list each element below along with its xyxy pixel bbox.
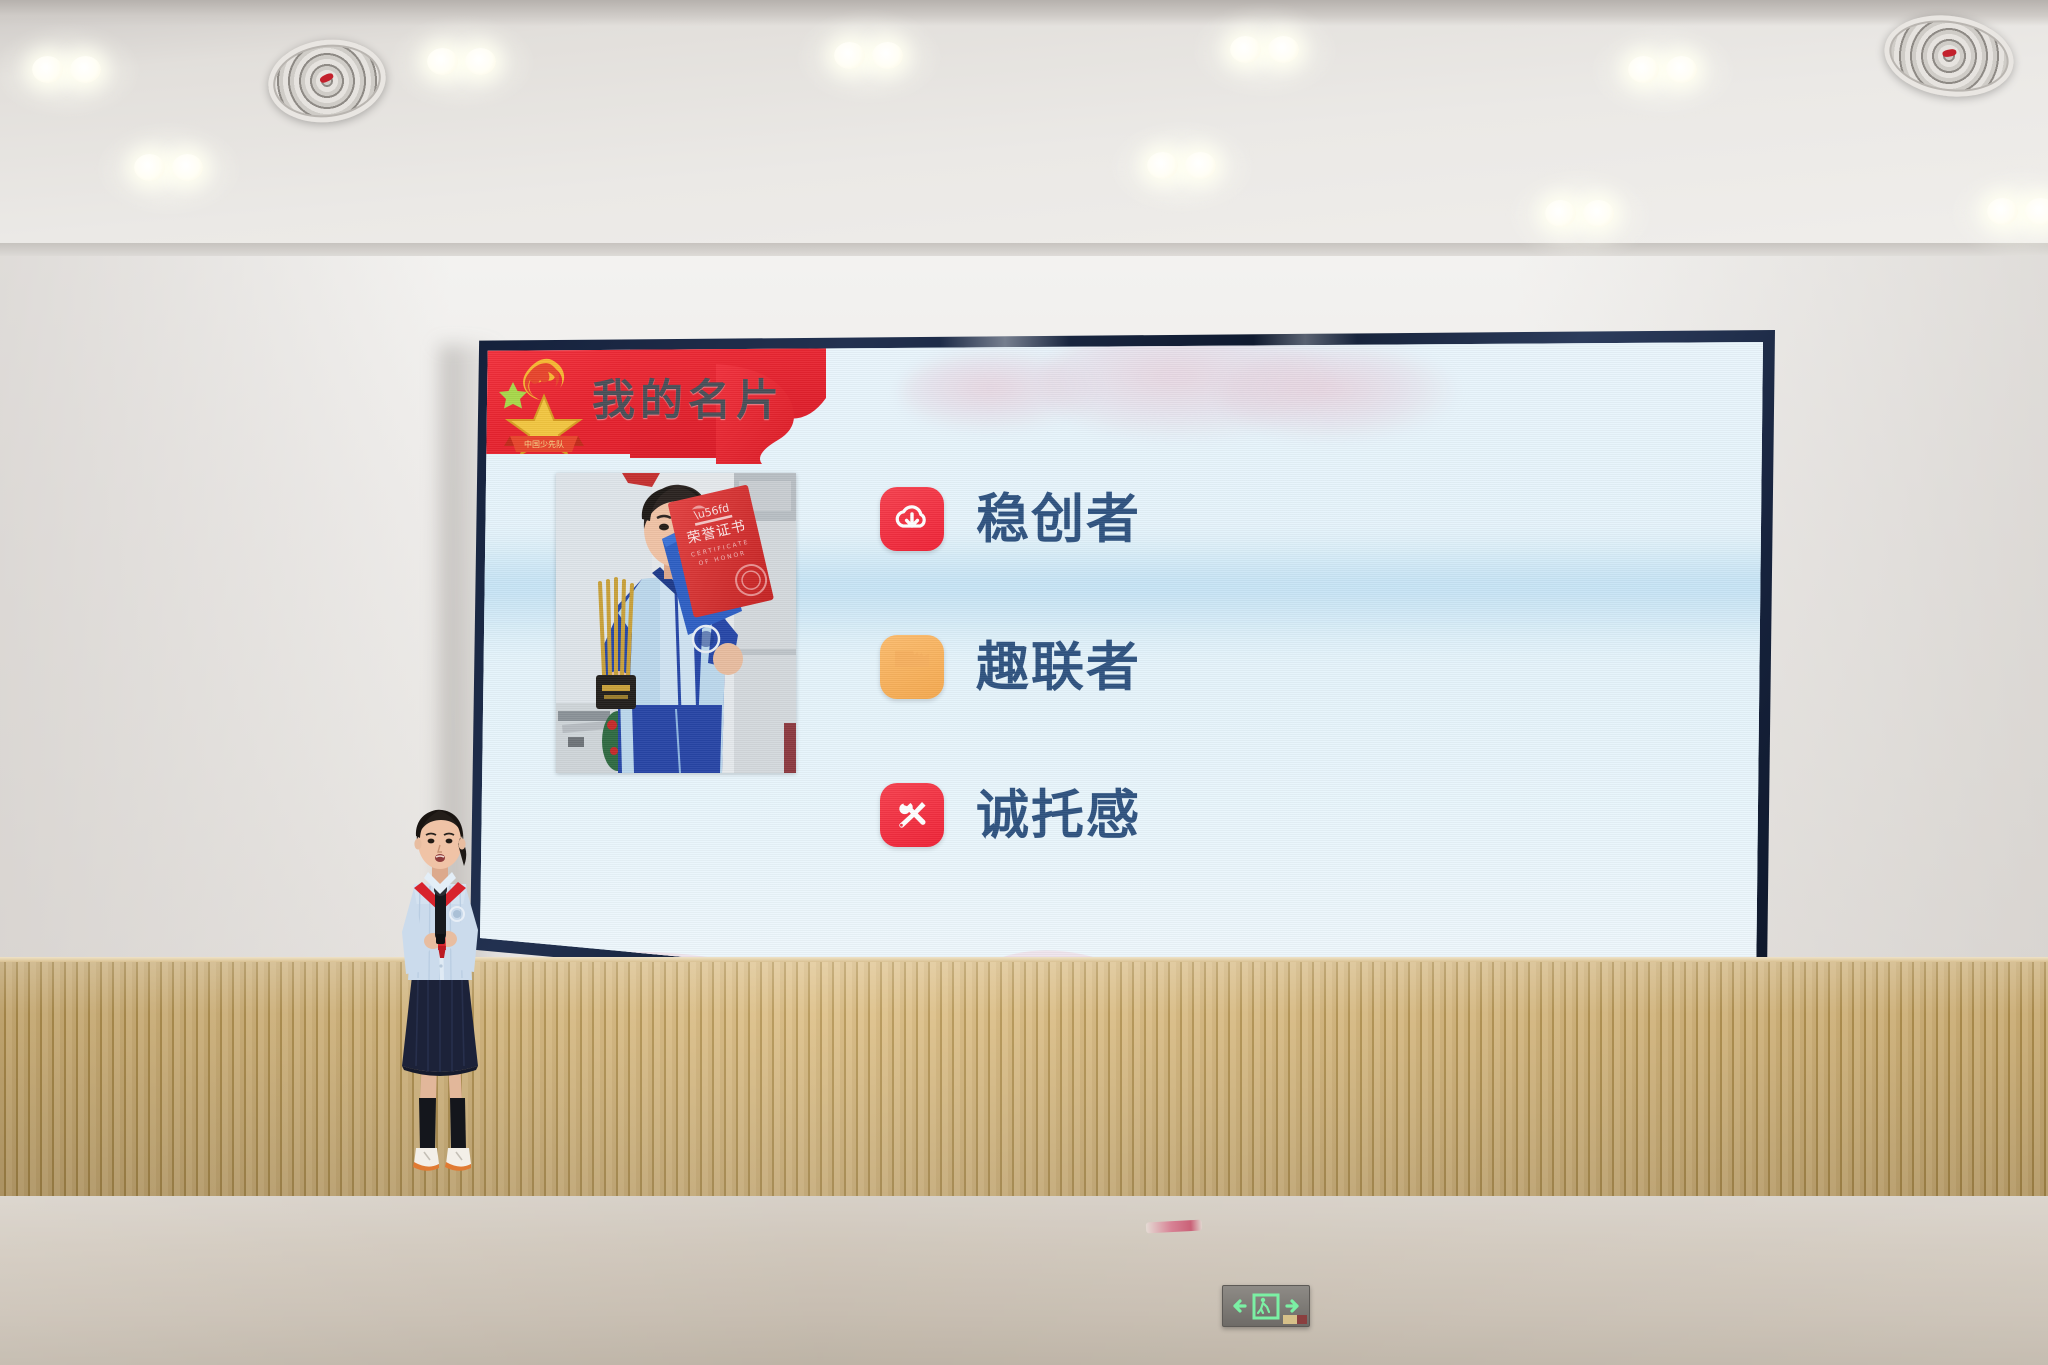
exit-sign-badge [1283, 1315, 1307, 1324]
slide-cloud-decor [1220, 346, 1460, 442]
stage-floor-sheen [0, 1196, 2048, 1365]
slide-cloud-decor [900, 352, 1100, 432]
auditorium-scene: 中国少先队 我的名片 [0, 0, 2048, 1365]
list-item[interactable]: 诚托感 [880, 780, 1400, 850]
list-item-label: 稳创者 [976, 493, 1141, 546]
list-item[interactable]: 稳创者 [880, 484, 1400, 554]
ceiling-light [30, 52, 104, 88]
list-item-label: 诚托感 [976, 789, 1141, 842]
slide-feature-list: 稳创者 趣联者 [880, 484, 1400, 928]
ceiling-shadow [0, 0, 2048, 26]
slide-title: 我的名片 [592, 366, 784, 428]
emblem-ribbon-text: 中国少先队 [524, 439, 564, 449]
young-pioneers-emblem: 中国少先队 [496, 350, 592, 454]
ceiling [0, 0, 2048, 258]
folded-corner-book-icon [880, 635, 944, 699]
ceiling-light [1626, 52, 1700, 88]
ceiling-light [832, 38, 906, 74]
ceiling-light [1985, 194, 2048, 230]
student-presenter [380, 808, 500, 1186]
list-item[interactable]: 趣联者 [880, 632, 1400, 702]
list-item-label: 趣联者 [976, 641, 1141, 694]
wainscot-shading [0, 962, 2048, 1202]
ceiling-light [1543, 196, 1617, 232]
student-award-photo: \u56fd 荣誉证书 CERTIFICATE OF HONOR [556, 473, 796, 773]
ceiling-light [1228, 32, 1302, 68]
ceiling-light [1145, 148, 1219, 184]
student-award-photo-frame: \u56fd 荣誉证书 CERTIFICATE OF HONOR [556, 473, 796, 773]
wrench-screwdriver-icon [880, 783, 944, 847]
ceiling-light [425, 44, 499, 80]
emergency-exit-sign [1222, 1285, 1310, 1327]
ceiling-light [132, 150, 206, 186]
cloud-download-icon [880, 487, 944, 551]
